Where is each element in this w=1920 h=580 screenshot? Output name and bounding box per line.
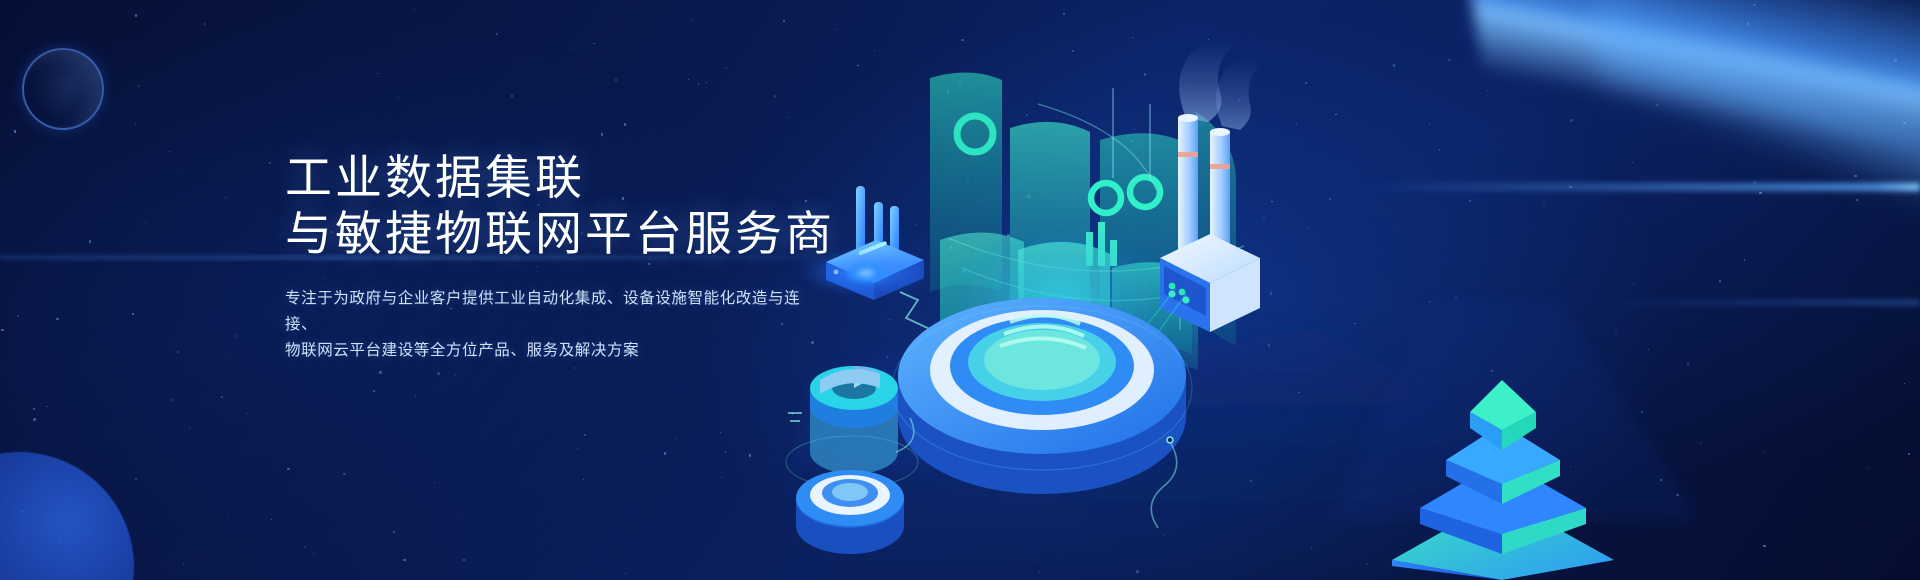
star-dot	[437, 372, 440, 375]
star-dot	[1393, 64, 1396, 67]
star-dot	[725, 67, 727, 69]
star-dot	[1908, 453, 1910, 455]
star-dot	[413, 9, 415, 11]
star-dot	[1429, 301, 1431, 303]
star-dot	[1866, 468, 1867, 469]
star-dot	[1010, 386, 1012, 388]
star-dot	[1641, 411, 1643, 413]
star-dot	[940, 300, 943, 303]
star-dot	[706, 82, 707, 83]
star-dot	[950, 246, 953, 249]
moon-ring-icon	[22, 48, 104, 130]
star-dot	[692, 20, 693, 21]
star-dot	[783, 20, 785, 22]
light-beam-horizontal	[1360, 183, 1920, 191]
data-platform-disc	[892, 298, 1192, 494]
star-dot	[1027, 195, 1030, 198]
star-dot	[455, 375, 457, 377]
star-dot	[1547, 496, 1550, 499]
star-dot	[1144, 73, 1146, 75]
star-dot	[584, 434, 586, 436]
planet-sphere-icon	[0, 452, 134, 580]
star-dot	[1298, 392, 1300, 394]
star-dot	[1469, 200, 1472, 203]
star-dot	[377, 73, 378, 74]
star-dot	[792, 413, 794, 415]
star-dot	[183, 564, 184, 565]
star-dot	[373, 390, 375, 392]
star-dot	[33, 408, 35, 410]
star-dot	[177, 351, 180, 354]
star-dot	[1129, 403, 1130, 404]
star-dot	[1354, 323, 1355, 324]
star-dot	[46, 406, 48, 408]
star-dot	[857, 65, 859, 67]
star-dot	[169, 151, 170, 152]
star-dot	[1763, 545, 1766, 548]
star-dot	[221, 396, 223, 398]
star-dot	[1039, 571, 1040, 572]
star-dot	[1660, 479, 1662, 481]
star-dot	[906, 394, 907, 395]
star-dot	[132, 313, 134, 315]
star-dot	[204, 23, 206, 25]
star-dot	[17, 315, 19, 317]
hologram-cylinder	[930, 72, 1248, 374]
star-dot	[135, 478, 137, 480]
star-dot	[1041, 466, 1044, 469]
star-dot	[1296, 124, 1297, 125]
star-dot	[836, 29, 837, 30]
star-dot	[749, 454, 751, 456]
star-dot	[576, 448, 579, 451]
star-dot	[170, 399, 172, 401]
star-dot	[1037, 561, 1038, 562]
star-dot	[624, 123, 627, 126]
star-dot	[615, 79, 617, 81]
star-dot	[574, 367, 576, 369]
star-dot	[226, 515, 227, 516]
star-dot	[1109, 444, 1110, 445]
star-dot	[1570, 466, 1571, 467]
star-dot	[1455, 297, 1457, 299]
star-dot	[189, 427, 190, 428]
star-dot	[947, 90, 950, 93]
star-dot	[1072, 50, 1074, 52]
star-dot	[1263, 421, 1265, 423]
star-dot	[967, 181, 969, 183]
star-dot	[304, 546, 306, 548]
star-dot	[774, 95, 777, 98]
hero-text-block: 工业数据集联 与敏捷物联网平台服务商 专注于为政府与企业客户提供工业自动化集成、…	[285, 150, 925, 364]
star-dot	[940, 141, 942, 143]
star-dot	[379, 371, 382, 374]
page-subtitle-line2: 物联网云平台建设等全方位产品、服务及解决方案	[285, 338, 805, 364]
star-dot	[1268, 344, 1270, 346]
star-dot	[511, 95, 513, 97]
star-dot	[1263, 217, 1265, 219]
star-dot	[496, 33, 498, 35]
star-dot	[1, 329, 3, 331]
star-dot	[226, 351, 228, 353]
star-dot	[1763, 451, 1764, 452]
star-dot	[234, 335, 236, 337]
star-dot	[786, 116, 788, 118]
star-dot	[1136, 570, 1139, 573]
star-dot	[1305, 82, 1307, 84]
star-dot	[698, 83, 699, 84]
star-dot	[688, 79, 689, 80]
star-dot	[1145, 244, 1146, 245]
star-dot	[1475, 553, 1477, 555]
star-dot	[1235, 117, 1236, 118]
star-dot	[583, 479, 584, 480]
star-dot	[1687, 363, 1690, 366]
star-dot	[182, 171, 183, 172]
star-dot	[130, 378, 131, 379]
star-dot	[1238, 100, 1240, 102]
star-dot	[861, 476, 864, 479]
star-dot	[1090, 361, 1092, 363]
star-dot	[1063, 13, 1065, 15]
star-dot	[434, 482, 435, 483]
star-dot	[573, 49, 574, 50]
star-dot	[1007, 234, 1010, 237]
star-dot	[458, 514, 459, 515]
star-dot	[269, 162, 271, 164]
star-dot	[1904, 383, 1905, 384]
light-beam-horizontal-lower	[1590, 300, 1920, 305]
star-dot	[1594, 328, 1595, 329]
star-dot	[1491, 370, 1493, 372]
star-dot	[1439, 149, 1441, 151]
star-dot	[463, 559, 465, 561]
star-dot	[725, 451, 727, 453]
star-dot	[1448, 59, 1451, 62]
star-dot	[1134, 129, 1135, 130]
star-dot	[225, 197, 226, 198]
star-dot	[1898, 333, 1899, 334]
star-dot	[1271, 201, 1272, 202]
page-title-line2: 与敏捷物联网平台服务商	[285, 206, 925, 262]
star-dot	[959, 129, 961, 131]
star-dot	[1311, 547, 1312, 548]
star-dot	[959, 82, 961, 84]
star-dot	[1615, 330, 1617, 332]
star-dot	[1132, 37, 1133, 38]
star-dot	[1552, 459, 1555, 462]
hero-banner: 工业数据集联 与敏捷物联网平台服务商 专注于为政府与企业客户提供工业自动化集成、…	[0, 0, 1920, 580]
factory-stacks	[1160, 40, 1262, 333]
star-dot	[1125, 370, 1126, 371]
star-dot	[135, 123, 136, 124]
star-dot	[393, 531, 396, 534]
star-dot	[1029, 417, 1030, 418]
star-dot	[1369, 399, 1370, 400]
star-dot	[398, 97, 400, 99]
page-title-line1: 工业数据集联	[285, 150, 925, 206]
star-dot	[138, 85, 140, 87]
star-dot	[963, 270, 966, 273]
star-dot	[1250, 480, 1252, 482]
star-dot	[234, 548, 235, 549]
star-dot	[1197, 169, 1198, 170]
star-dot	[1335, 114, 1336, 115]
star-dot	[1057, 381, 1058, 382]
star-dot	[721, 477, 722, 478]
star-dot	[1131, 140, 1134, 143]
star-dot	[1366, 563, 1368, 565]
star-dot	[1026, 114, 1028, 116]
star-dot	[664, 452, 667, 455]
star-dot	[1208, 39, 1209, 40]
star-dot	[280, 220, 281, 221]
star-dot	[1231, 546, 1232, 547]
star-dot	[593, 43, 595, 45]
star-dot	[135, 14, 138, 17]
star-dot	[89, 240, 92, 243]
star-dot	[601, 133, 604, 136]
star-dot	[33, 418, 36, 421]
star-dot	[1308, 228, 1309, 229]
star-dot	[1316, 327, 1318, 329]
star-dot	[1397, 228, 1398, 229]
star-dot	[313, 553, 314, 554]
step-pyramid	[1392, 380, 1614, 580]
star-dot	[343, 473, 346, 476]
star-dot	[415, 396, 416, 397]
star-dot	[1329, 198, 1331, 200]
star-dot	[1253, 383, 1254, 384]
star-dot	[271, 519, 272, 520]
star-dot	[1429, 124, 1430, 125]
star-dot	[403, 559, 406, 562]
star-dot	[874, 50, 876, 52]
star-dot	[1401, 521, 1402, 522]
star-dot	[287, 468, 290, 471]
star-dot	[1019, 349, 1020, 350]
light-beam-diagonal-soft	[1579, 0, 1920, 299]
pie-chart-cylinder	[786, 366, 918, 488]
star-dot	[1482, 406, 1484, 408]
small-disc	[796, 470, 904, 554]
star-dot	[25, 337, 26, 338]
star-dot	[625, 573, 626, 574]
star-dot	[1648, 349, 1650, 351]
star-dot	[1031, 481, 1032, 482]
page-subtitle-line1: 专注于为政府与企业客户提供工业自动化集成、设备设施智能化改造与连接、	[285, 286, 805, 338]
star-dot	[978, 398, 980, 400]
star-dot	[961, 39, 964, 42]
star-dot	[14, 130, 16, 132]
star-dot	[247, 413, 248, 414]
star-dot	[720, 432, 721, 433]
star-dot	[1158, 222, 1159, 223]
star-dot	[1163, 535, 1164, 536]
star-dot	[1067, 508, 1069, 510]
star-dot	[56, 318, 59, 321]
star-dot	[675, 438, 676, 439]
star-dot	[1700, 442, 1702, 444]
star-dot	[1676, 494, 1679, 497]
star-dot	[1270, 292, 1273, 295]
star-dot	[145, 222, 146, 223]
